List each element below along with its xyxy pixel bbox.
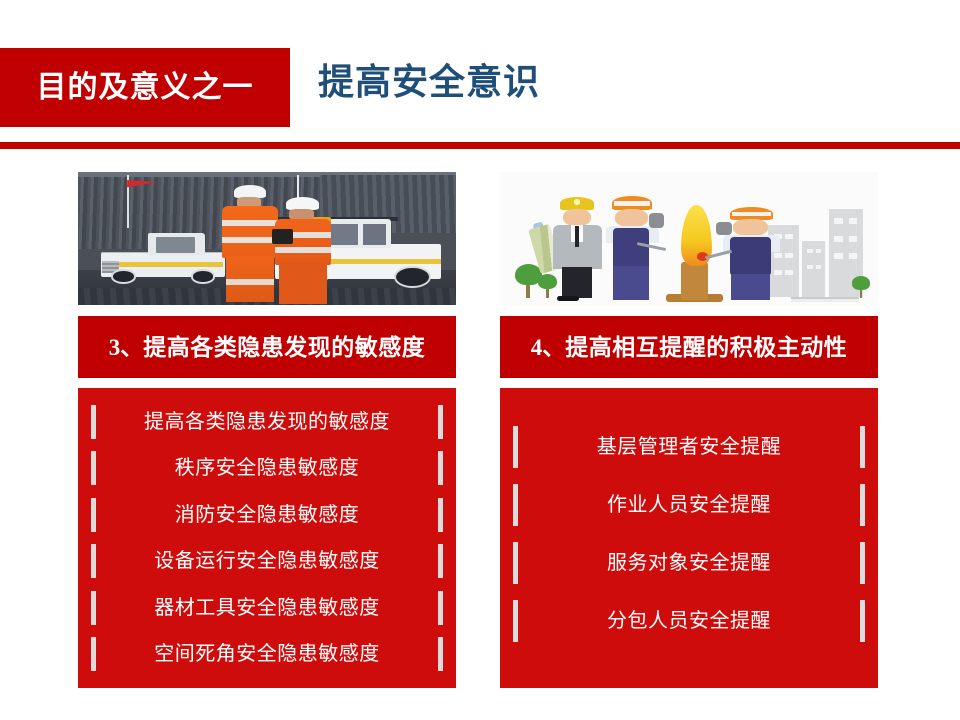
list-item[interactable]: 基层管理者安全提醒 — [500, 429, 878, 465]
slide-canvas: 目的及意义之一 提高安全意识 — [0, 0, 960, 720]
header-tag-label: 目的及意义之一 — [37, 73, 254, 103]
list-item[interactable]: 服务对象安全提醒 — [500, 545, 878, 581]
list-item-label: 消防安全隐患敏感度 — [175, 505, 360, 525]
bullet-bar-left-icon — [513, 600, 518, 642]
list-item[interactable]: 设备运行安全隐患敏感度 — [78, 544, 456, 578]
list-item[interactable]: 秩序安全隐患敏感度 — [78, 451, 456, 485]
worker-figure-right — [275, 197, 332, 303]
bullet-bar-right-icon — [860, 426, 865, 468]
section-title: 提高各类隐患发现的敏感度 — [143, 336, 425, 359]
list-item-label: 提高各类隐患发现的敏感度 — [144, 412, 390, 432]
bullet-bar-right-icon — [438, 591, 443, 625]
bullet-bar-right-icon — [438, 405, 443, 439]
bullet-bar-right-icon — [860, 600, 865, 642]
header-divider — [0, 142, 960, 149]
site-workers-photo — [78, 172, 456, 305]
list-item[interactable]: 分包人员安全提醒 — [500, 603, 878, 639]
bullet-bar-left-icon — [91, 544, 96, 578]
gas-pipe — [681, 262, 707, 299]
section-title: 提高相互提醒的积极主动性 — [565, 336, 847, 359]
welder-figure-right — [723, 207, 780, 303]
list-panel-right: 基层管理者安全提醒 作业人员安全提醒 服务对象安全提醒 分包人员安全提醒 — [500, 388, 878, 688]
list-item-label: 空间死角安全隐患敏感度 — [154, 644, 380, 664]
bullet-bar-right-icon — [860, 484, 865, 526]
bullet-bar-left-icon — [91, 591, 96, 625]
list-item-label: 服务对象安全提醒 — [607, 553, 771, 573]
list-item-label: 设备运行安全隐患敏感度 — [154, 551, 380, 571]
bullet-bar-left-icon — [91, 637, 96, 671]
bullet-bar-left-icon — [513, 542, 518, 584]
list-item[interactable]: 消防安全隐患敏感度 — [78, 498, 456, 532]
bullet-bar-left-icon — [513, 426, 518, 468]
cartoon-welders-illustration — [500, 172, 878, 305]
welder-figure-left — [606, 196, 659, 302]
section-number: 4、 — [531, 336, 566, 359]
list-item[interactable]: 提高各类隐患发现的敏感度 — [78, 405, 456, 439]
header-tag-box: 目的及意义之一 — [0, 48, 290, 127]
bullet-bar-left-icon — [91, 498, 96, 532]
bullet-bar-right-icon — [438, 498, 443, 532]
section-header-3: 3、 提高各类隐患发现的敏感度 — [78, 316, 456, 378]
column-left: 3、 提高各类隐患发现的敏感度 提高各类隐患发现的敏感度 秩序安全隐患敏感度 消… — [78, 172, 456, 688]
list-panel-left: 提高各类隐患发现的敏感度 秩序安全隐患敏感度 消防安全隐患敏感度 设备运行安全隐… — [78, 388, 456, 688]
engineer-figure — [553, 197, 602, 301]
section-header-4: 4、 提高相互提醒的积极主动性 — [500, 316, 878, 378]
bullet-bar-right-icon — [438, 637, 443, 671]
pickup-truck-left — [101, 236, 226, 284]
list-item[interactable]: 作业人员安全提醒 — [500, 487, 878, 523]
page-title: 提高安全意识 — [318, 64, 540, 100]
steel-pipes-icon — [791, 297, 859, 302]
building-icon — [802, 241, 825, 297]
tree-icon — [852, 276, 871, 299]
bullet-bar-left-icon — [513, 484, 518, 526]
bullet-bar-right-icon — [860, 542, 865, 584]
worker-figure-left — [222, 185, 279, 302]
list-item-label: 器材工具安全隐患敏感度 — [154, 598, 380, 618]
section-number: 3、 — [109, 336, 144, 359]
bullet-bar-right-icon — [438, 544, 443, 578]
list-item-label: 基层管理者安全提醒 — [597, 437, 782, 457]
list-item[interactable]: 器材工具安全隐患敏感度 — [78, 591, 456, 625]
bullet-bar-left-icon — [91, 405, 96, 439]
bullet-bar-right-icon — [438, 451, 443, 485]
list-item[interactable]: 空间死角安全隐患敏感度 — [78, 637, 456, 671]
list-item-label: 作业人员安全提醒 — [607, 495, 771, 515]
column-right: 4、 提高相互提醒的积极主动性 基层管理者安全提醒 作业人员安全提醒 服务对象安… — [500, 172, 878, 688]
bullet-bar-left-icon — [91, 451, 96, 485]
list-item-label: 秩序安全隐患敏感度 — [175, 458, 360, 478]
list-item-label: 分包人员安全提醒 — [607, 611, 771, 631]
